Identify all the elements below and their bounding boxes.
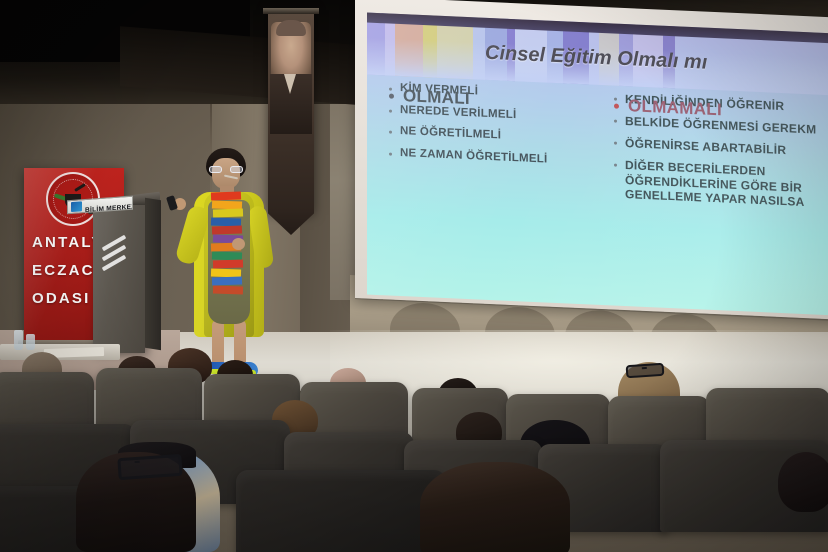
banner-line-2: ECZACI — [32, 262, 101, 279]
slide-column-right: OLMAMALI KENDİLİĞİNDEN ÖĞRENİR BELKİDE Ö… — [604, 87, 828, 316]
bullet-dot-icon — [614, 142, 617, 145]
scarf-band — [212, 225, 242, 234]
bullet-dot-icon — [389, 131, 392, 134]
speaker-right-hand — [232, 238, 245, 250]
audience-seat — [0, 372, 94, 430]
water-bottle — [14, 330, 23, 350]
audience-head — [420, 462, 570, 552]
bullet-text: NE ÖĞRETİLMELİ — [400, 125, 501, 143]
podium — [93, 205, 145, 353]
water-bottle — [26, 334, 35, 350]
slide-columns: OLMALI KİM VERMELİ NEREDE VERİLMELİ NE Ö… — [367, 77, 828, 316]
bullet-dot-icon — [389, 93, 394, 98]
list-item: NE ZAMAN ÖĞRETİLMELİ — [389, 146, 596, 169]
slide-kicker-text: CİNSEL GELİŞİM, MAHREMİYET EĞİTİMİ ve İS… — [395, 13, 627, 25]
bullet-text: NE ZAMAN ÖĞRETİLMELİ — [400, 147, 547, 167]
bullet-dot-icon — [389, 109, 392, 112]
scarf-band — [213, 208, 243, 217]
bullet-dot-icon — [614, 164, 617, 167]
slide-column-left: OLMALI KİM VERMELİ NEREDE VERİLMELİ NE Ö… — [367, 77, 604, 306]
scarf-band — [213, 285, 243, 294]
bullet-dot-icon — [389, 152, 392, 155]
column-left-heading: OLMALI — [389, 86, 470, 110]
banner-line-3: ODASI — [32, 290, 91, 307]
column-right-heading-text: OLMAMALI — [628, 96, 722, 120]
bullet-dot-icon — [614, 103, 619, 108]
speaker-left-leg — [212, 320, 224, 368]
projection-screen-frame: CİNSEL GELİŞİM, MAHREMİYET EĞİTİMİ ve İS… — [355, 0, 828, 320]
speaker-glasses-icon — [209, 166, 243, 173]
conference-photo-scene: ANTALYA ECZACI ODASI ANTALYA BİLİM MERKE… — [0, 0, 828, 552]
scarf-band — [211, 191, 241, 200]
audience-sunglasses-icon — [117, 454, 182, 480]
speaker-face — [212, 158, 240, 189]
science-center-logo-icon — [71, 201, 82, 212]
scarf-band — [212, 276, 242, 285]
audience-sunglasses-icon — [626, 363, 665, 379]
portrait-hair — [276, 20, 306, 36]
list-item: ÖĞRENİRSE ABARTABİLİR — [614, 136, 828, 160]
column-left-heading-text: OLMALI — [403, 86, 470, 109]
projection-screen-assembly: CİNSEL GELİŞİM, MAHREMİYET EĞİTİMİ ve İS… — [355, 0, 828, 330]
bullet-text: ÖĞRENİRSE ABARTABİLİR — [625, 136, 786, 157]
list-item: DİĞER BECERİLERDEN ÖĞRENDİKLERİNE GÖRE B… — [614, 158, 828, 210]
bullet-dot-icon — [614, 120, 617, 123]
audience-head — [778, 452, 828, 512]
scarf-band — [213, 259, 243, 268]
podium-side — [145, 198, 161, 351]
bullet-text: DİĞER BECERİLERDEN ÖĞRENDİKLERİNE GÖRE B… — [625, 158, 828, 210]
projected-slide: CİNSEL GELİŞİM, MAHREMİYET EĞİTİMİ ve İS… — [367, 13, 828, 316]
audience-seat — [236, 470, 446, 552]
banner-rod — [263, 8, 319, 14]
list-item: NE ÖĞRETİLMELİ — [389, 125, 596, 148]
